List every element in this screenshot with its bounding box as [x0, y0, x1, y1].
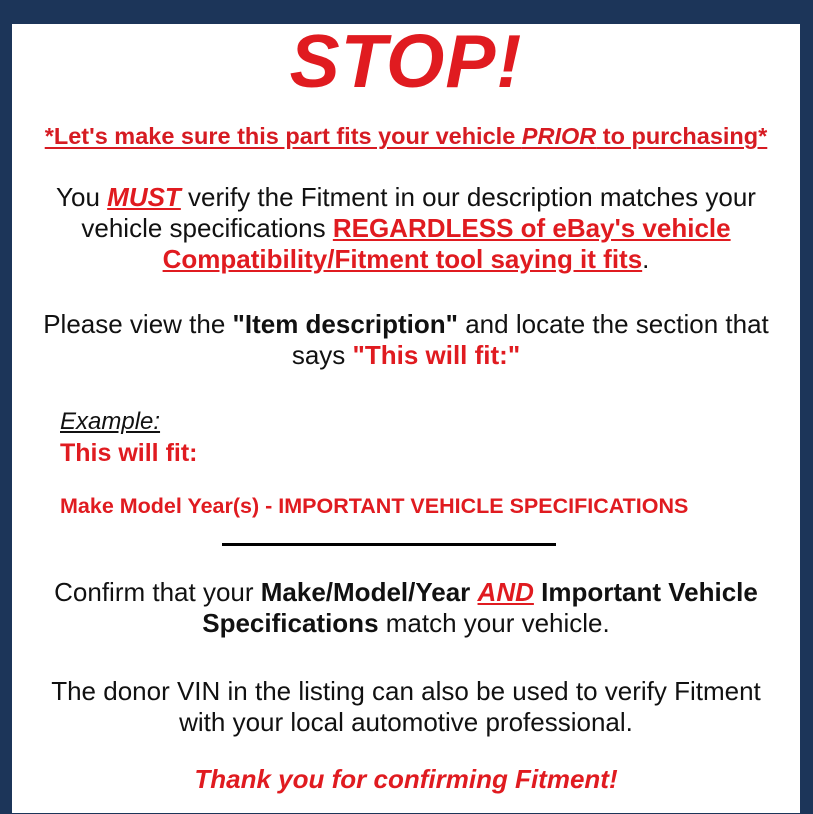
make-model-year-emphasis: Make/Model/Year: [261, 577, 471, 607]
notice-sheet: STOP! *Let's make sure this part fits yo…: [12, 24, 800, 813]
donor-vin-paragraph: The donor VIN in the listing can also be…: [12, 676, 800, 738]
fitment-tagline: *Let's make sure this part fits your veh…: [12, 123, 800, 150]
example-this-will-fit-heading: This will fit:: [60, 439, 800, 468]
tagline-prior-emphasis: PRIOR: [522, 123, 596, 149]
tagline-prefix: *Let's make sure this part fits your veh…: [45, 123, 522, 149]
tagline-suffix: to purchasing*: [596, 123, 767, 149]
example-label-row: Example:: [60, 409, 800, 435]
confirm-par-part2: match your vehicle.: [379, 608, 610, 638]
must-verify-paragraph: You MUST verify the Fitment in our descr…: [12, 182, 800, 275]
this-will-fit-quote: "This will fit:": [353, 340, 521, 370]
and-emphasis: AND: [478, 577, 534, 607]
item-description-label: "Item description": [233, 309, 458, 339]
must-emphasis: MUST: [107, 182, 181, 212]
example-label: Example:: [60, 409, 160, 435]
must-par-part3: .: [642, 244, 649, 274]
confirm-paragraph: Confirm that your Make/Model/Year AND Im…: [12, 577, 800, 639]
desc-par-part1: Please view the: [43, 309, 232, 339]
example-block: Example: This will fit: Make Model Year(…: [12, 409, 800, 519]
stop-headline: STOP!: [12, 24, 800, 99]
divider-wrap: [12, 543, 800, 553]
fitment-notice-frame: STOP! *Let's make sure this part fits yo…: [0, 0, 813, 814]
horizontal-divider: [222, 543, 556, 546]
confirm-par-part1: Confirm that your: [54, 577, 261, 607]
thank-you-line: Thank you for confirming Fitment!: [12, 764, 800, 795]
item-description-paragraph: Please view the "Item description" and l…: [12, 309, 800, 371]
must-par-part1: You: [56, 182, 107, 212]
example-fitment-line: Make Model Year(s) - IMPORTANT VEHICLE S…: [60, 494, 800, 519]
